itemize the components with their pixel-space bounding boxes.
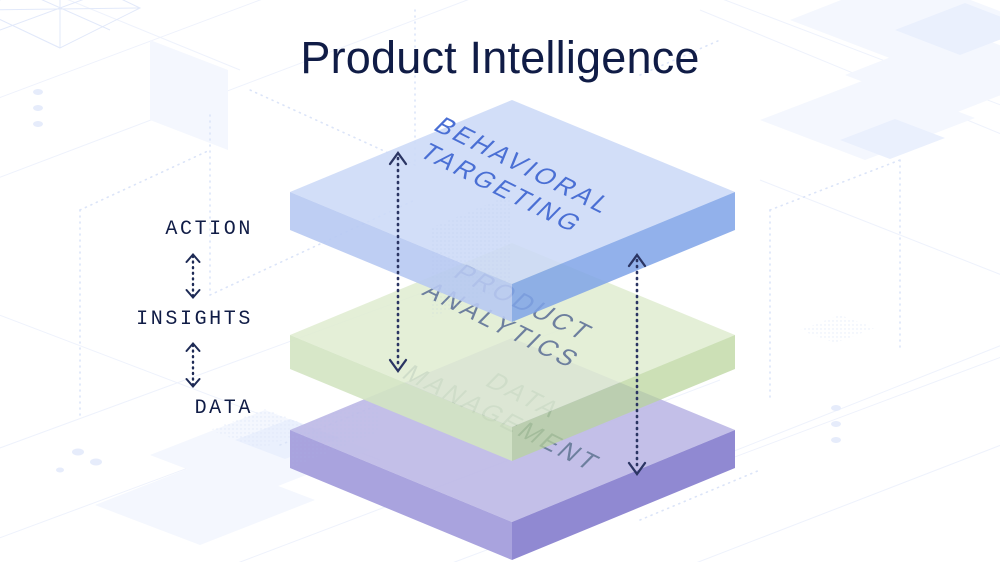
diagram-canvas: Product Intelligence ACTION INSIGHTS DAT… (0, 0, 1000, 562)
isometric-stack: DATA MANAGEMENT PRODUCT ANALYTICS BEHAVI… (0, 0, 1000, 562)
layer-behavioral-targeting[interactable]: BEHAVIORAL TARGETING (290, 100, 735, 322)
